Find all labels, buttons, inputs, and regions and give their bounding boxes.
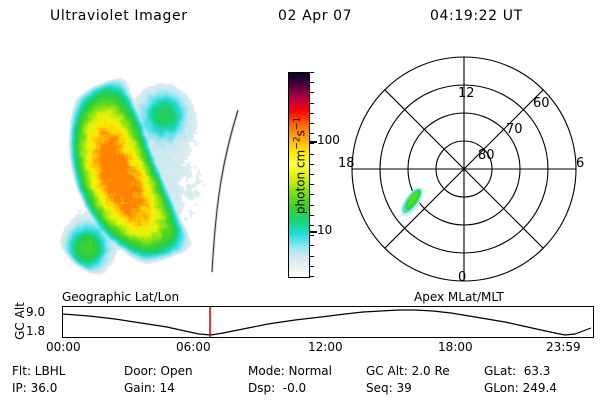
polar-lat-label-60: 60 bbox=[533, 96, 550, 111]
colorbar-minor-tick bbox=[309, 72, 314, 73]
colorbar-minor-tick bbox=[309, 113, 314, 114]
polar-mlt-label-12: 12 bbox=[458, 86, 475, 101]
polar-grid bbox=[348, 44, 598, 294]
colorbar-major-tick bbox=[309, 231, 317, 233]
page-title: Ultraviolet Imager bbox=[50, 8, 188, 24]
status-gain: Gain: 14 bbox=[124, 381, 175, 395]
polar-mlt-label-18: 18 bbox=[338, 156, 355, 171]
colorbar-minor-tick bbox=[309, 235, 314, 236]
status-mode: Mode: Normal bbox=[248, 364, 332, 378]
colorbar-minor-tick bbox=[309, 143, 314, 144]
colorbar-minor-tick bbox=[309, 82, 314, 83]
colorbar-minor-tick bbox=[309, 133, 314, 134]
orbit-x-tick-1: 06:00 bbox=[176, 340, 211, 354]
status-glon: GLon: 249.4 bbox=[484, 381, 557, 395]
polar-mlt-label-6: 6 bbox=[576, 156, 584, 171]
orbit-x-tick-4: 23:59 bbox=[546, 340, 581, 354]
polar-lat-label-80: 80 bbox=[478, 148, 495, 163]
colorbar-minor-tick bbox=[309, 276, 314, 277]
colorbar-minor-tick bbox=[309, 205, 314, 206]
polar-mlat-mlt-plot: 12 6 0 18 60 70 80 bbox=[348, 44, 598, 294]
colorbar: photon cm−2s−1 10010 bbox=[256, 66, 356, 282]
uv-aurora-image bbox=[14, 52, 254, 290]
colorbar-minor-tick bbox=[309, 154, 314, 155]
orbit-x-tick-2: 12:00 bbox=[308, 340, 343, 354]
status-ip: IP: 36.0 bbox=[12, 381, 57, 395]
status-filter: Flt: LBHL bbox=[12, 364, 65, 378]
colorbar-minor-tick bbox=[309, 194, 314, 195]
polar-mlt-label-0: 0 bbox=[458, 270, 466, 285]
orbit-y-tick-high: 9.0 bbox=[26, 305, 45, 319]
status-gc-alt: GC Alt: 2.0 Re bbox=[366, 364, 450, 378]
status-footer: Flt: LBHL IP: 36.0 Door: Open Gain: 14 M… bbox=[0, 362, 600, 400]
colorbar-major-tick bbox=[309, 141, 317, 143]
observation-time: 04:19:22 UT bbox=[430, 8, 523, 24]
colorbar-minor-tick bbox=[309, 256, 314, 257]
orbit-y-tick-low: 1.8 bbox=[26, 324, 45, 338]
polar-lat-label-70: 70 bbox=[506, 122, 523, 137]
colorbar-minor-tick bbox=[309, 174, 314, 175]
colorbar-minor-tick bbox=[309, 184, 314, 185]
colorbar-tick-label-0: 100 bbox=[317, 133, 340, 147]
colorbar-tick-label-1: 10 bbox=[317, 223, 332, 237]
colorbar-axis-label: photon cm−2s−1 bbox=[293, 76, 308, 256]
status-door: Door: Open bbox=[124, 364, 193, 378]
uv-image-canvas bbox=[14, 52, 254, 290]
orbit-x-tick-0: 00:00 bbox=[46, 340, 81, 354]
status-dsp: Dsp: -0.0 bbox=[248, 381, 306, 395]
uv-imager-screen: Ultraviolet Imager 02 Apr 07 04:19:22 UT… bbox=[0, 0, 600, 400]
colorbar-minor-tick bbox=[309, 164, 314, 165]
colorbar-minor-tick bbox=[309, 245, 314, 246]
orbit-title-apex: Apex MLat/MLT bbox=[414, 290, 504, 304]
status-glat: GLat: 63.3 bbox=[484, 364, 550, 378]
orbit-plot-frame bbox=[62, 306, 594, 338]
colorbar-minor-tick bbox=[309, 266, 314, 267]
colorbar-minor-tick bbox=[309, 225, 314, 226]
orbit-altitude-plot: Geographic Lat/Lon Apex MLat/MLT GC Alt … bbox=[0, 290, 600, 360]
colorbar-minor-tick bbox=[309, 123, 314, 124]
orbit-title-geographic: Geographic Lat/Lon bbox=[62, 290, 179, 304]
orbit-y-axis-label: GC Alt bbox=[13, 291, 27, 351]
colorbar-minor-tick bbox=[309, 103, 314, 104]
colorbar-minor-tick bbox=[309, 92, 314, 93]
observation-date: 02 Apr 07 bbox=[278, 8, 352, 24]
orbit-curve bbox=[63, 307, 593, 337]
colorbar-minor-tick bbox=[309, 215, 314, 216]
orbit-x-tick-3: 18:00 bbox=[438, 340, 473, 354]
status-seq: Seq: 39 bbox=[366, 381, 412, 395]
